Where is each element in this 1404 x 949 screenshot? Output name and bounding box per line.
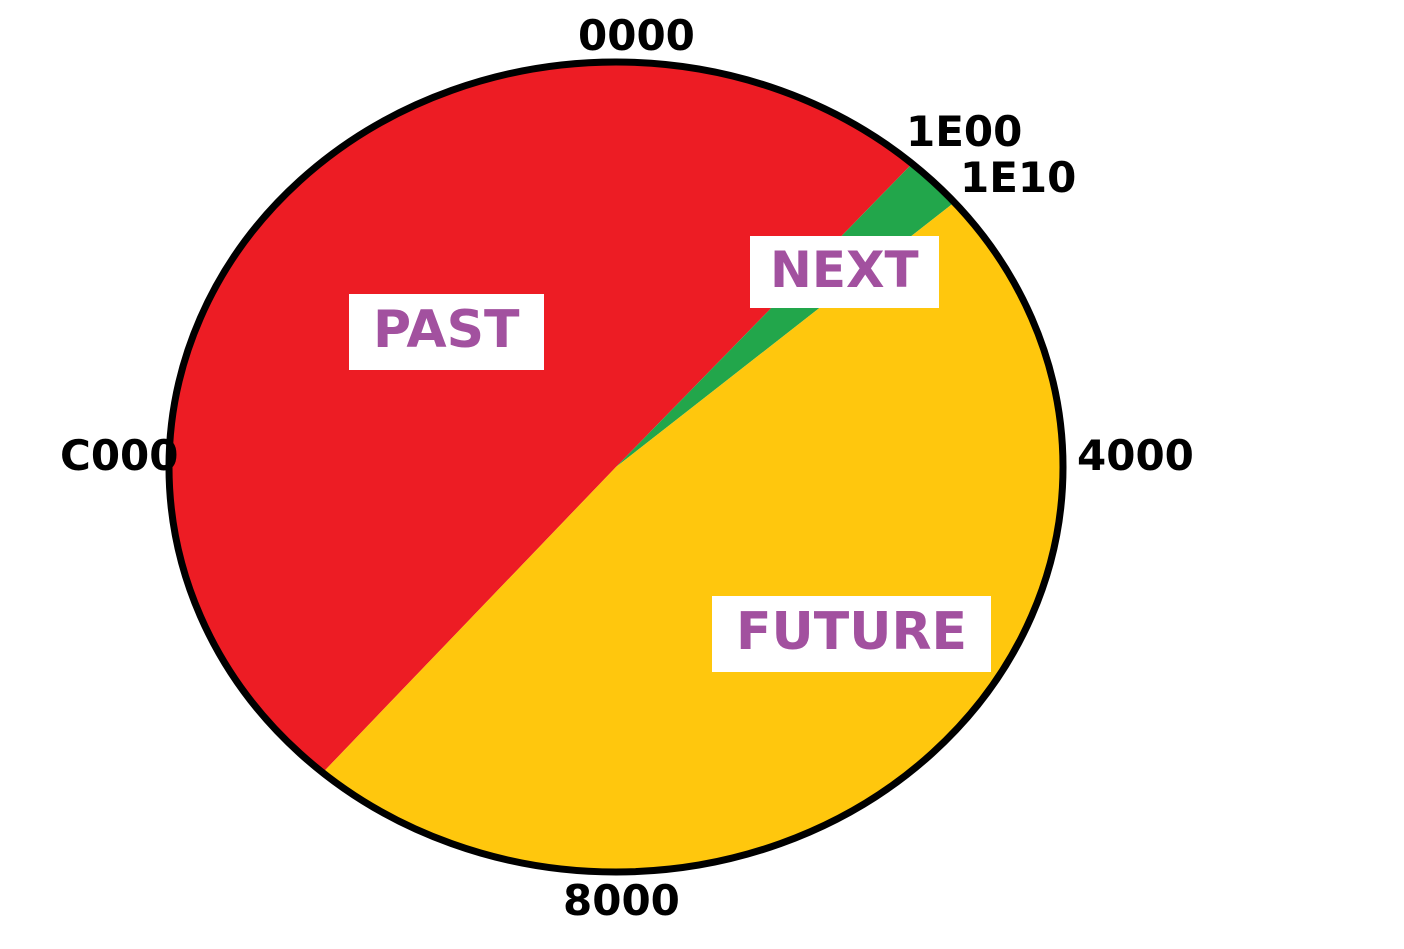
tick-label-bottom: 8000 xyxy=(563,876,680,925)
tick-label-right: 4000 xyxy=(1077,431,1194,480)
sector-label-future: FUTURE xyxy=(712,596,991,672)
tick-label-next-start: 1E00 xyxy=(906,107,1022,156)
tick-label-next-end: 1E10 xyxy=(960,153,1076,202)
figure-canvas: 0000 1E00 1E10 4000 8000 C000 PAST NEXT … xyxy=(0,0,1404,949)
tick-label-top: 0000 xyxy=(578,11,695,60)
tick-label-left: C000 xyxy=(60,431,179,480)
sector-label-past: PAST xyxy=(349,294,544,370)
sector-label-next: NEXT xyxy=(750,236,939,308)
